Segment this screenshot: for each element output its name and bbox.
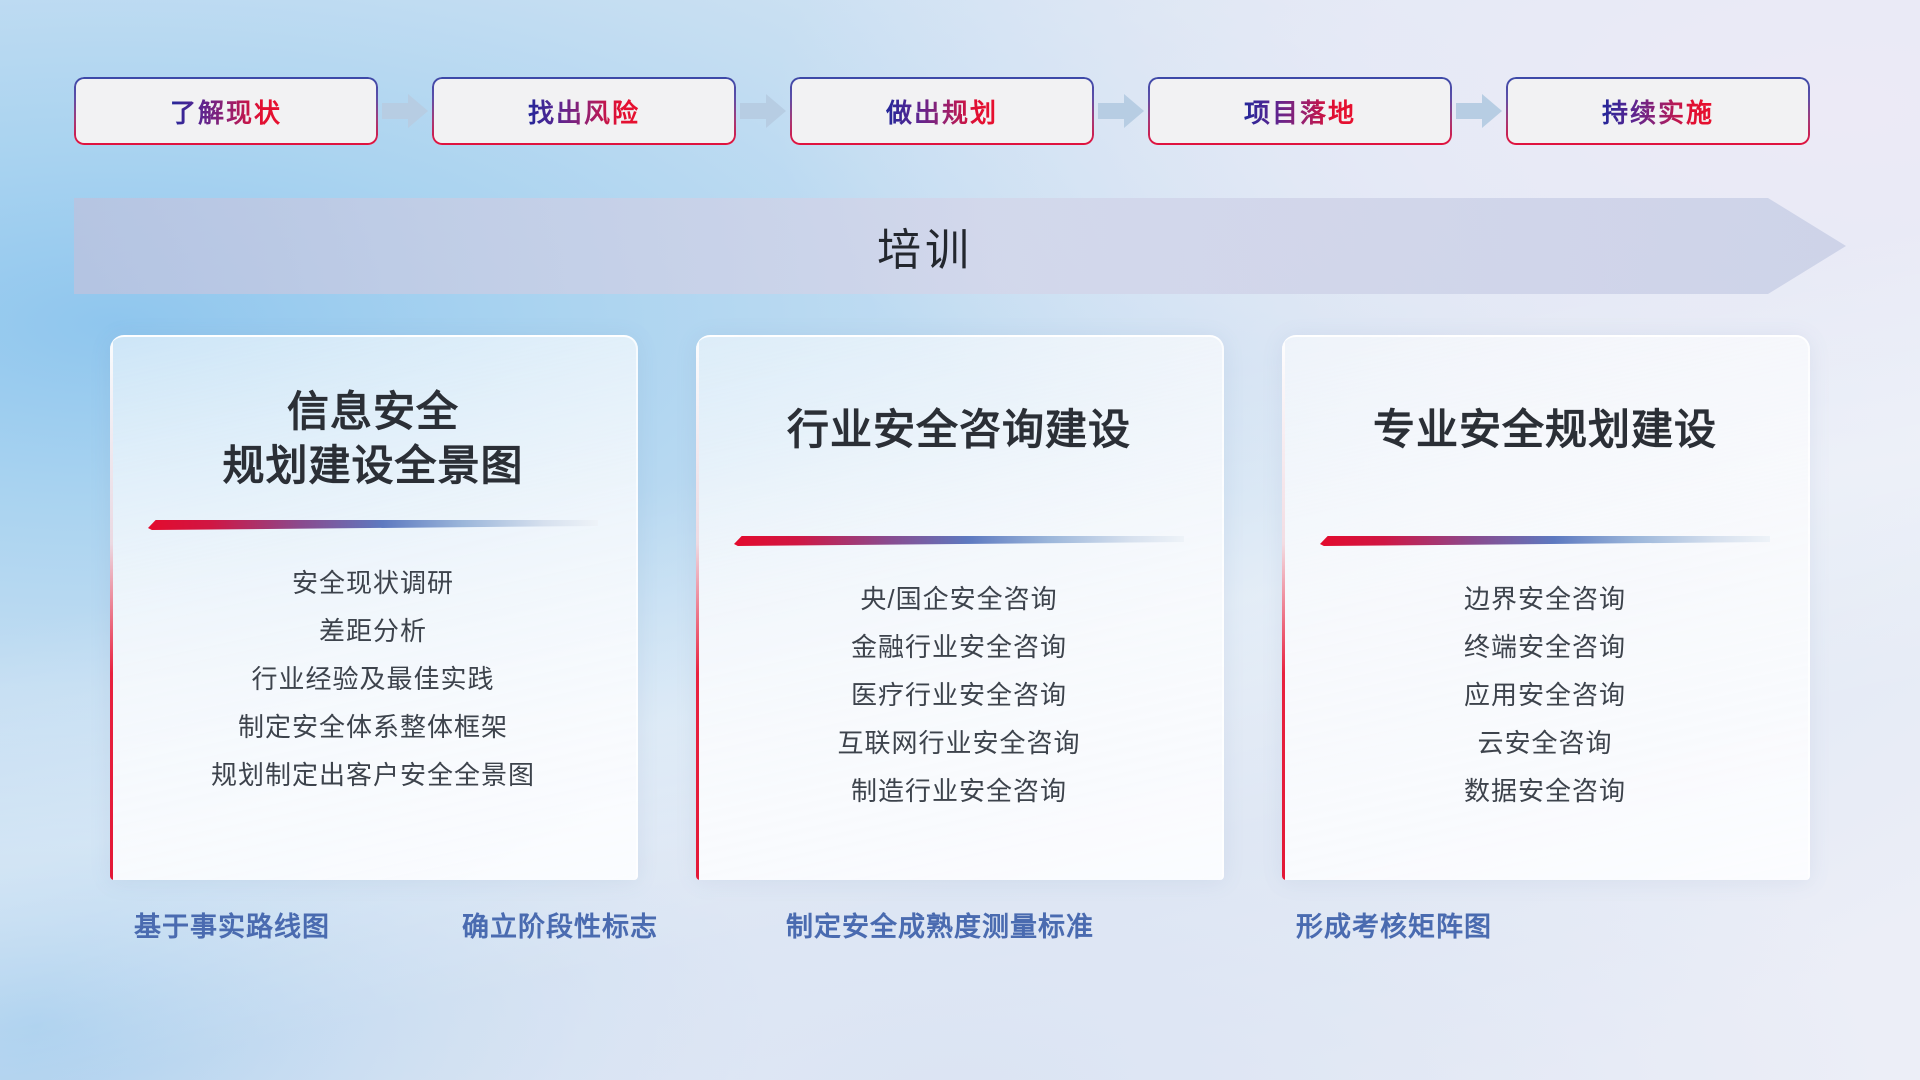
footer-label-2: 确立阶段性标志: [462, 905, 658, 944]
process-step-5-label: 持续实施: [1602, 93, 1714, 130]
banner-title: 培训: [74, 198, 1846, 294]
list-item: 数据安全咨询: [1312, 767, 1778, 815]
list-item: 金融行业安全咨询: [726, 623, 1192, 671]
process-step-4[interactable]: 项目落地: [1148, 77, 1452, 145]
card-title-line: 规划建设全景图: [140, 439, 606, 493]
card-professional-security-planning[interactable]: 专业安全规划建设 边界安全咨询 终端安全咨询: [1282, 335, 1810, 880]
arrow-right-icon: [1454, 91, 1504, 131]
process-step-row: 了解现状 找出风险 做出规划 项目落地 持续实施: [74, 76, 1846, 146]
list-item: 规划制定出客户安全全景图: [140, 751, 606, 799]
training-banner: 培训: [74, 198, 1846, 294]
arrow-right-icon: [738, 91, 788, 131]
footer-label-1: 基于事实路线图: [134, 905, 330, 944]
card-title-line: 行业安全咨询建设: [726, 403, 1192, 457]
gradient-divider-icon: [148, 515, 598, 533]
footer-label-3: 制定安全成熟度测量标准: [786, 905, 1094, 944]
card-industry-security-consulting[interactable]: 行业安全咨询建设 央/国企安全咨询 金融行业安: [696, 335, 1224, 880]
list-item: 边界安全咨询: [1312, 575, 1778, 623]
list-item: 应用安全咨询: [1312, 671, 1778, 719]
card-title-line: 专业安全规划建设: [1312, 403, 1778, 457]
list-item: 终端安全咨询: [1312, 623, 1778, 671]
card-item-list: 边界安全咨询 终端安全咨询 应用安全咨询 云安全咨询 数据安全咨询: [1312, 575, 1778, 815]
gradient-divider-icon: [734, 531, 1184, 549]
process-step-2[interactable]: 找出风险: [432, 77, 736, 145]
list-item: 安全现状调研: [140, 559, 606, 607]
footer-label-row: 基于事实路线图 确立阶段性标志 制定安全成熟度测量标准 形成考核矩阵图: [0, 905, 1920, 965]
list-item: 制造行业安全咨询: [726, 767, 1192, 815]
card-item-list: 安全现状调研 差距分析 行业经验及最佳实践 制定安全体系整体框架 规划制定出客户…: [140, 559, 606, 799]
arrow-right-icon: [380, 91, 430, 131]
card-title: 行业安全咨询建设: [726, 403, 1192, 457]
card-row: 信息安全 规划建设全景图 安全现状调研: [110, 335, 1810, 880]
list-item: 差距分析: [140, 607, 606, 655]
list-item: 行业经验及最佳实践: [140, 655, 606, 703]
card-title-line: 信息安全: [140, 385, 606, 439]
card-content: 专业安全规划建设 边界安全咨询 终端安全咨询: [1282, 337, 1808, 880]
footer-label-4: 形成考核矩阵图: [1296, 905, 1492, 944]
process-step-5[interactable]: 持续实施: [1506, 77, 1810, 145]
process-step-4-label: 项目落地: [1244, 93, 1356, 130]
gradient-divider-icon: [1320, 531, 1770, 549]
list-item: 云安全咨询: [1312, 719, 1778, 767]
slide-stage: 了解现状 找出风险 做出规划 项目落地 持续实施 培训: [0, 0, 1920, 1080]
arrow-right-icon: [1096, 91, 1146, 131]
process-step-3[interactable]: 做出规划: [790, 77, 1094, 145]
process-step-2-label: 找出风险: [528, 93, 640, 130]
card-information-security[interactable]: 信息安全 规划建设全景图 安全现状调研: [110, 335, 638, 880]
card-title: 专业安全规划建设: [1312, 403, 1778, 457]
card-title: 信息安全 规划建设全景图: [140, 385, 606, 493]
process-step-3-label: 做出规划: [886, 93, 998, 130]
list-item: 制定安全体系整体框架: [140, 703, 606, 751]
list-item: 央/国企安全咨询: [726, 575, 1192, 623]
card-item-list: 央/国企安全咨询 金融行业安全咨询 医疗行业安全咨询 互联网行业安全咨询 制造行…: [726, 575, 1192, 815]
card-content: 行业安全咨询建设 央/国企安全咨询 金融行业安: [696, 337, 1222, 880]
list-item: 医疗行业安全咨询: [726, 671, 1192, 719]
process-step-1-label: 了解现状: [170, 93, 282, 130]
list-item: 互联网行业安全咨询: [726, 719, 1192, 767]
card-content: 信息安全 规划建设全景图 安全现状调研: [110, 337, 636, 880]
process-step-1[interactable]: 了解现状: [74, 77, 378, 145]
